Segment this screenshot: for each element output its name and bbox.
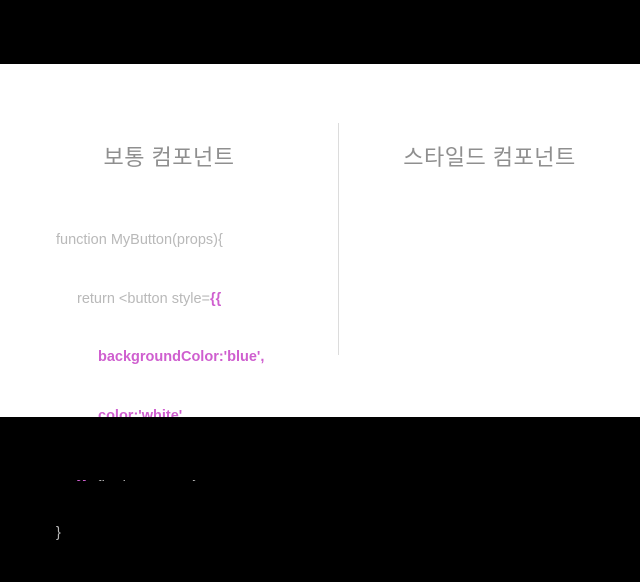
code-line: return <button style={{ — [56, 290, 264, 310]
code-block-normal-component: function MyButton(props){ return <button… — [56, 192, 264, 582]
code-line: function MyButton(props){ — [56, 231, 264, 251]
code-line: } — [56, 524, 264, 544]
heading-styled-component: 스타일드 컴포넌트 — [339, 140, 640, 172]
code-text: function MyButton(props){ — [56, 232, 223, 248]
slide-content-area: 보통 컴포넌트 function MyButton(props){ return… — [0, 64, 640, 417]
letterbox-bottom-bar — [0, 417, 640, 480]
code-text: } — [56, 525, 61, 541]
code-highlight: {{ — [210, 291, 221, 307]
slide-screen: 보통 컴포넌트 function MyButton(props){ return… — [0, 0, 640, 480]
heading-normal-component: 보통 컴포넌트 — [0, 140, 338, 172]
code-highlight: backgroundColor:'blue', — [98, 349, 264, 365]
code-text: return <button style= — [77, 291, 210, 307]
letterbox-top-bar — [0, 0, 640, 64]
code-line: backgroundColor:'blue', — [56, 348, 264, 368]
